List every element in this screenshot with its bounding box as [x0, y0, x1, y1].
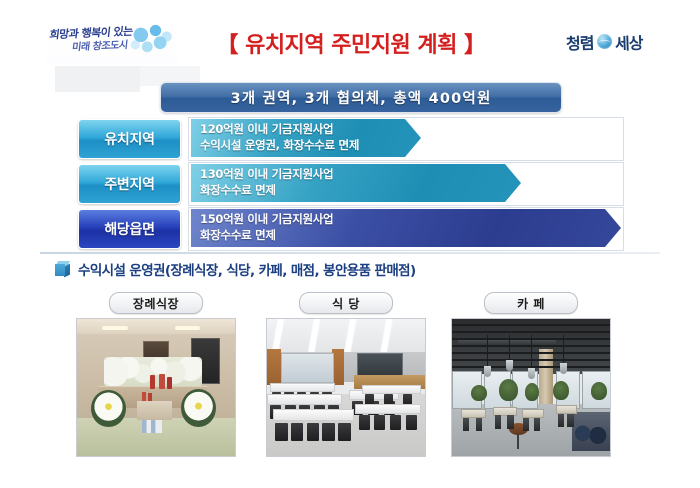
city-slogan-text: 희망과 행복이 있는 미래 창조도시: [47, 24, 163, 56]
facility-photo-gallery: 장례식장: [0, 292, 700, 462]
row-content-line2: 화장수수료 면제: [200, 228, 333, 244]
row-content-line1: 130억원 이내 기금지원사업: [200, 167, 333, 183]
facility-card: 장례식장: [76, 292, 236, 457]
globe-icon: [597, 34, 612, 49]
row-content: 130억원 이내 기금지원사업 화장수수료 면제: [200, 167, 333, 198]
city-slogan-logo: 희망과 행복이 있는 미래 창조도시: [47, 22, 177, 64]
row-arrow: 150억원 이내 기금지원사업 화장수수료 면제: [191, 209, 621, 247]
summary-banner: 3개 권역, 3개 협의체, 총액 400억원: [160, 82, 562, 113]
section-heading: 수익시설 운영권(장례식장, 식당, 카페, 매점, 봉안용품 판매점): [55, 258, 416, 280]
facility-caption-text: 식 당: [332, 295, 360, 312]
facility-caption-badge: 카 페: [484, 292, 578, 314]
integrity-logo-text-left: 청렴: [566, 30, 594, 55]
table-row: 120억원 이내 기금지원사업 수익시설 운영권, 화장수수료 면제 유치지역: [78, 117, 624, 161]
summary-banner-text: 3개 권역, 3개 협의체, 총액 400억원: [230, 87, 491, 108]
row-arrow: 120억원 이내 기금지원사업 수익시설 운영권, 화장수수료 면제: [191, 119, 421, 157]
cafe-photo: [451, 318, 611, 457]
table-row: 150억원 이내 기금지원사업 화장수수료 면제 해당읍면: [78, 207, 624, 251]
integrity-world-logo: 청렴 세상: [550, 26, 658, 58]
row-content-line2: 수익시설 운영권, 화장수수료 면제: [200, 138, 359, 154]
funeral-hall-photo: [76, 318, 236, 457]
row-label-text: 해당읍면: [104, 219, 154, 239]
row-label-badge: 유치지역: [78, 119, 181, 159]
row-arrow: 130억원 이내 기금지원사업 화장수수료 면제: [191, 164, 521, 202]
row-label-text: 주변지역: [104, 174, 154, 194]
facility-caption-text: 장례식장: [133, 295, 179, 312]
facility-card: 식 당: [266, 292, 426, 457]
row-label-text: 유치지역: [104, 129, 154, 149]
integrity-logo-text-right: 세상: [614, 30, 642, 55]
row-label-badge: 해당읍면: [78, 209, 181, 249]
row-content-line1: 120억원 이내 기금지원사업: [200, 122, 359, 138]
row-content-line1: 150억원 이내 기금지원사업: [200, 212, 333, 228]
blue-cube-icon: [55, 261, 71, 277]
row-content-line2: 화장수수료 면제: [200, 183, 333, 199]
row-label-badge: 주변지역: [78, 164, 181, 204]
facility-caption-badge: 장례식장: [109, 292, 203, 314]
background-artifact-box: [55, 66, 140, 92]
page-title: 【 유치지역 주민지원 계획 】: [216, 27, 485, 59]
slide-header: 희망과 행복이 있는 미래 창조도시 【 유치지역 주민지원 계획 】 청렴 세…: [0, 0, 700, 72]
facility-card: 카 페: [451, 292, 611, 457]
row-content: 150억원 이내 기금지원사업 화장수수료 면제: [200, 212, 333, 243]
row-content: 120억원 이내 기금지원사업 수익시설 운영권, 화장수수료 면제: [200, 122, 359, 153]
support-plan-table: 120억원 이내 기금지원사업 수익시설 운영권, 화장수수료 면제 유치지역 …: [78, 117, 624, 255]
facility-caption-badge: 식 당: [299, 292, 393, 314]
section-heading-text: 수익시설 운영권(장례식장, 식당, 카페, 매점, 봉안용품 판매점): [78, 259, 416, 279]
slide-root: 희망과 행복이 있는 미래 창조도시 【 유치지역 주민지원 계획 】 청렴 세…: [0, 0, 700, 488]
table-row: 130억원 이내 기금지원사업 화장수수료 면제 주변지역: [78, 162, 624, 206]
cafeteria-photo: [266, 318, 426, 457]
section-divider: [40, 252, 660, 254]
page-title-container: 【 유치지역 주민지원 계획 】: [196, 23, 506, 63]
facility-caption-text: 카 페: [517, 295, 545, 312]
